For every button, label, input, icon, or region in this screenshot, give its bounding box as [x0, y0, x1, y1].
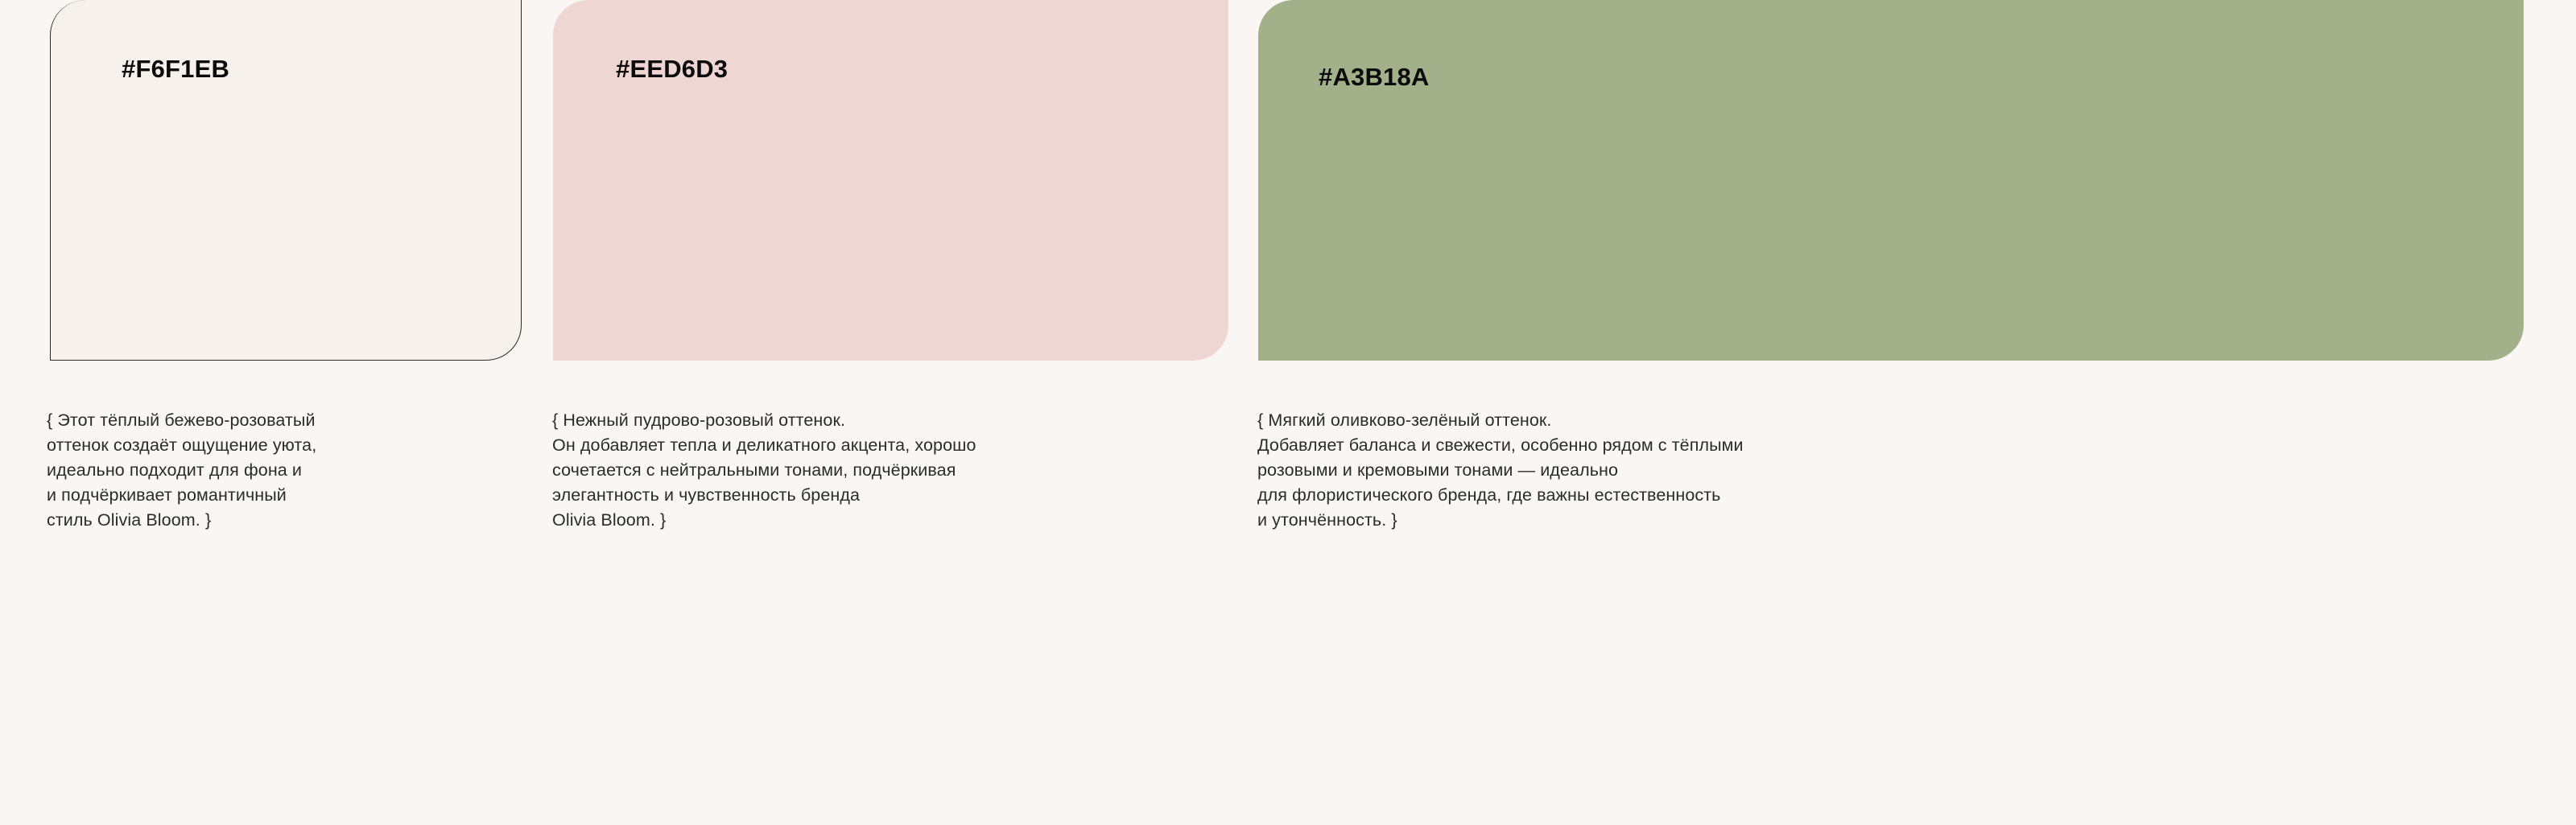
color-hex-label-3: #A3B18A [1319, 63, 1430, 92]
color-palette-board: #F6F1EB #EED6D3 #A3B18A { Этот тёплый бе… [0, 0, 2576, 825]
color-hex-label-2: #EED6D3 [616, 55, 728, 84]
color-hex-label-1: #F6F1EB [122, 55, 229, 84]
color-description-1: { Этот тёплый бежево-розоватый оттенок с… [47, 408, 546, 533]
color-description-3: { Мягкий оливково-зелёный оттенок. Добав… [1257, 408, 2143, 533]
color-description-2: { Нежный пудрово-розовый оттенок. Он доб… [552, 408, 1228, 533]
color-swatch-card-1[interactable]: #F6F1EB [50, 0, 522, 361]
color-swatch-card-3[interactable]: #A3B18A [1258, 0, 2524, 361]
color-swatch-card-2[interactable]: #EED6D3 [553, 0, 1228, 361]
